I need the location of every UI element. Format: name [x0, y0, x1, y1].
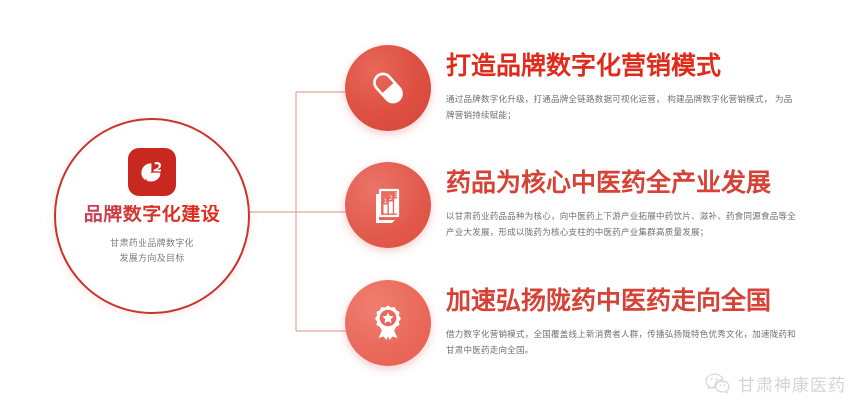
- ranking-chart-document-icon: 1 2 3: [366, 183, 410, 227]
- section-1-body: 通过品牌数字化升级，打通品牌全链路数据可视化运营， 构建品牌数字化营销模式， 为…: [446, 92, 798, 123]
- wechat-icon: [705, 373, 731, 395]
- watermark: 甘肃神康医药: [705, 371, 846, 396]
- section-3-title: 加速弘扬陇药中医药走向全国: [446, 286, 798, 316]
- leaf-logo-icon: [136, 156, 168, 188]
- svg-text:1: 1: [384, 198, 388, 205]
- hub-subtitle-line-2: 发展方向及目标: [110, 251, 194, 266]
- award-ribbon-icon: [366, 301, 410, 345]
- section-1-icon-bubble: [345, 45, 431, 131]
- capsule-pill-icon: [366, 66, 410, 110]
- section-1-title: 打造品牌数字化营销模式: [446, 51, 798, 81]
- section-3-icon-bubble: [345, 280, 431, 366]
- watermark-text: 甘肃神康医药: [738, 371, 846, 396]
- section-3-body: 借力数字化营销模式，全国覆盖线上新消费者人群，传播弘扬陇特色优秀文化，加速陇药和…: [446, 327, 798, 358]
- svg-text:3: 3: [394, 192, 398, 199]
- infographic-canvas: 品牌数字化建设 甘肃药业品牌数字化 发展方向及目标 打造品牌数字化营销模式 通过…: [0, 0, 864, 414]
- section-row-1: 打造品牌数字化营销模式 通过品牌数字化升级，打通品牌全链路数据可视化运营， 构建…: [345, 45, 798, 131]
- hub-title: 品牌数字化建设: [84, 205, 221, 226]
- section-row-2: 1 2 3 药品为核心中医药全产业发展 以甘肃药业药品品种为核心，向中医药上下游…: [345, 162, 798, 248]
- section-2-text: 药品为核心中医药全产业发展 以甘肃药业药品品种为核心，向中医药上下游产业拓展中药…: [446, 162, 798, 240]
- section-2-body: 以甘肃药业药品品种为核心，向中医药上下游产业拓展中药饮片、滋补、药食同源食品等全…: [446, 209, 798, 240]
- hub-subtitle: 甘肃药业品牌数字化 发展方向及目标: [110, 236, 194, 266]
- section-row-3: 加速弘扬陇药中医药走向全国 借力数字化营销模式，全国覆盖线上新消费者人群，传播弘…: [345, 280, 798, 366]
- section-1-text: 打造品牌数字化营销模式 通过品牌数字化升级，打通品牌全链路数据可视化运营， 构建…: [446, 45, 798, 123]
- hub-subtitle-line-1: 甘肃药业品牌数字化: [110, 236, 194, 251]
- central-hub: 品牌数字化建设 甘肃药业品牌数字化 发展方向及目标: [54, 118, 250, 314]
- section-2-icon-bubble: 1 2 3: [345, 162, 431, 248]
- section-3-text: 加速弘扬陇药中医药走向全国 借力数字化营销模式，全国覆盖线上新消费者人群，传播弘…: [446, 280, 798, 358]
- section-2-title: 药品为核心中医药全产业发展: [446, 168, 798, 198]
- svg-text:2: 2: [389, 195, 393, 202]
- brand-logo: [128, 148, 176, 196]
